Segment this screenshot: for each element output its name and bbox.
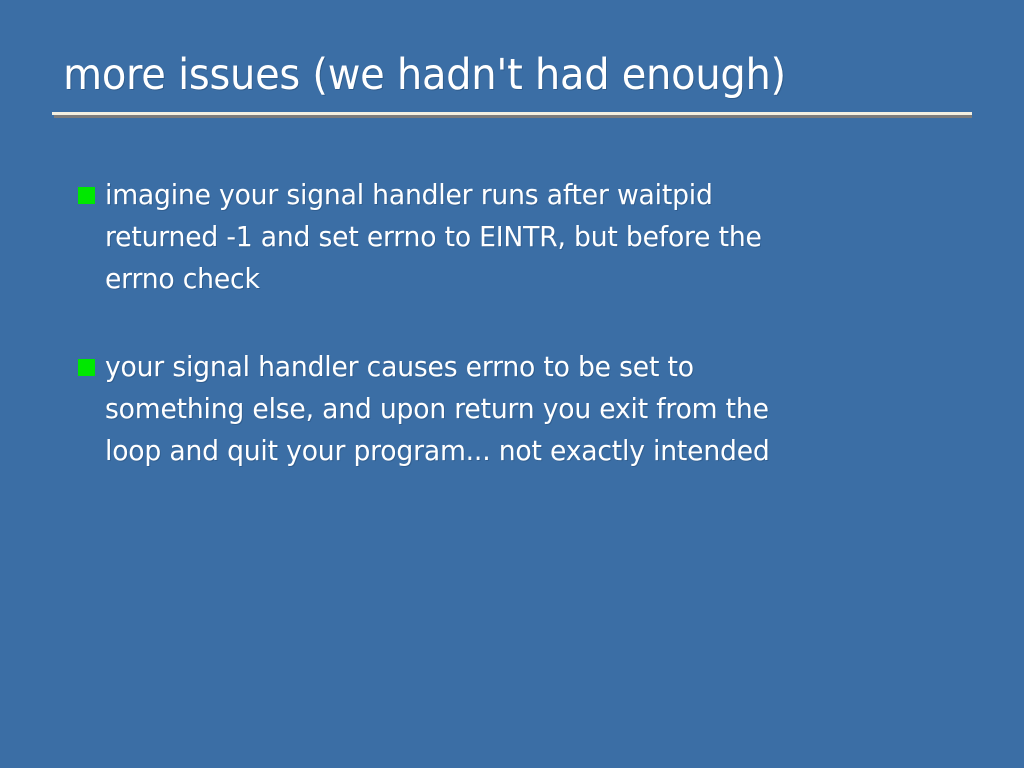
- title-rule-shadow: [54, 115, 972, 118]
- bullet-line: imagine your signal handler runs after w…: [105, 174, 934, 216]
- slide-title-block: more issues (we hadn't had enough): [52, 48, 972, 102]
- bullet-line: your signal handler causes errno to be s…: [105, 346, 934, 388]
- list-item: your signal handler causes errno to be s…: [78, 346, 978, 472]
- bullet-line: returned -1 and set errno to EINTR, but …: [105, 216, 934, 258]
- title-underline-rule: [52, 112, 972, 117]
- bullet-text-lines: imagine your signal handler runs after w…: [105, 174, 978, 300]
- list-item: imagine your signal handler runs after w…: [78, 174, 978, 300]
- green-square-bullet-icon: [78, 187, 95, 204]
- green-square-bullet-icon: [78, 359, 95, 376]
- slide-body: imagine your signal handler runs after w…: [78, 174, 978, 472]
- bullet-line: something else, and upon return you exit…: [105, 388, 934, 430]
- bullet-line: errno check: [105, 258, 934, 300]
- bullet-line: loop and quit your program... not exactl…: [105, 430, 934, 472]
- bullet-text-lines: your signal handler causes errno to be s…: [105, 346, 978, 472]
- page-title: more issues (we hadn't had enough): [52, 48, 908, 102]
- presentation-slide: more issues (we hadn't had enough) imagi…: [0, 0, 1024, 768]
